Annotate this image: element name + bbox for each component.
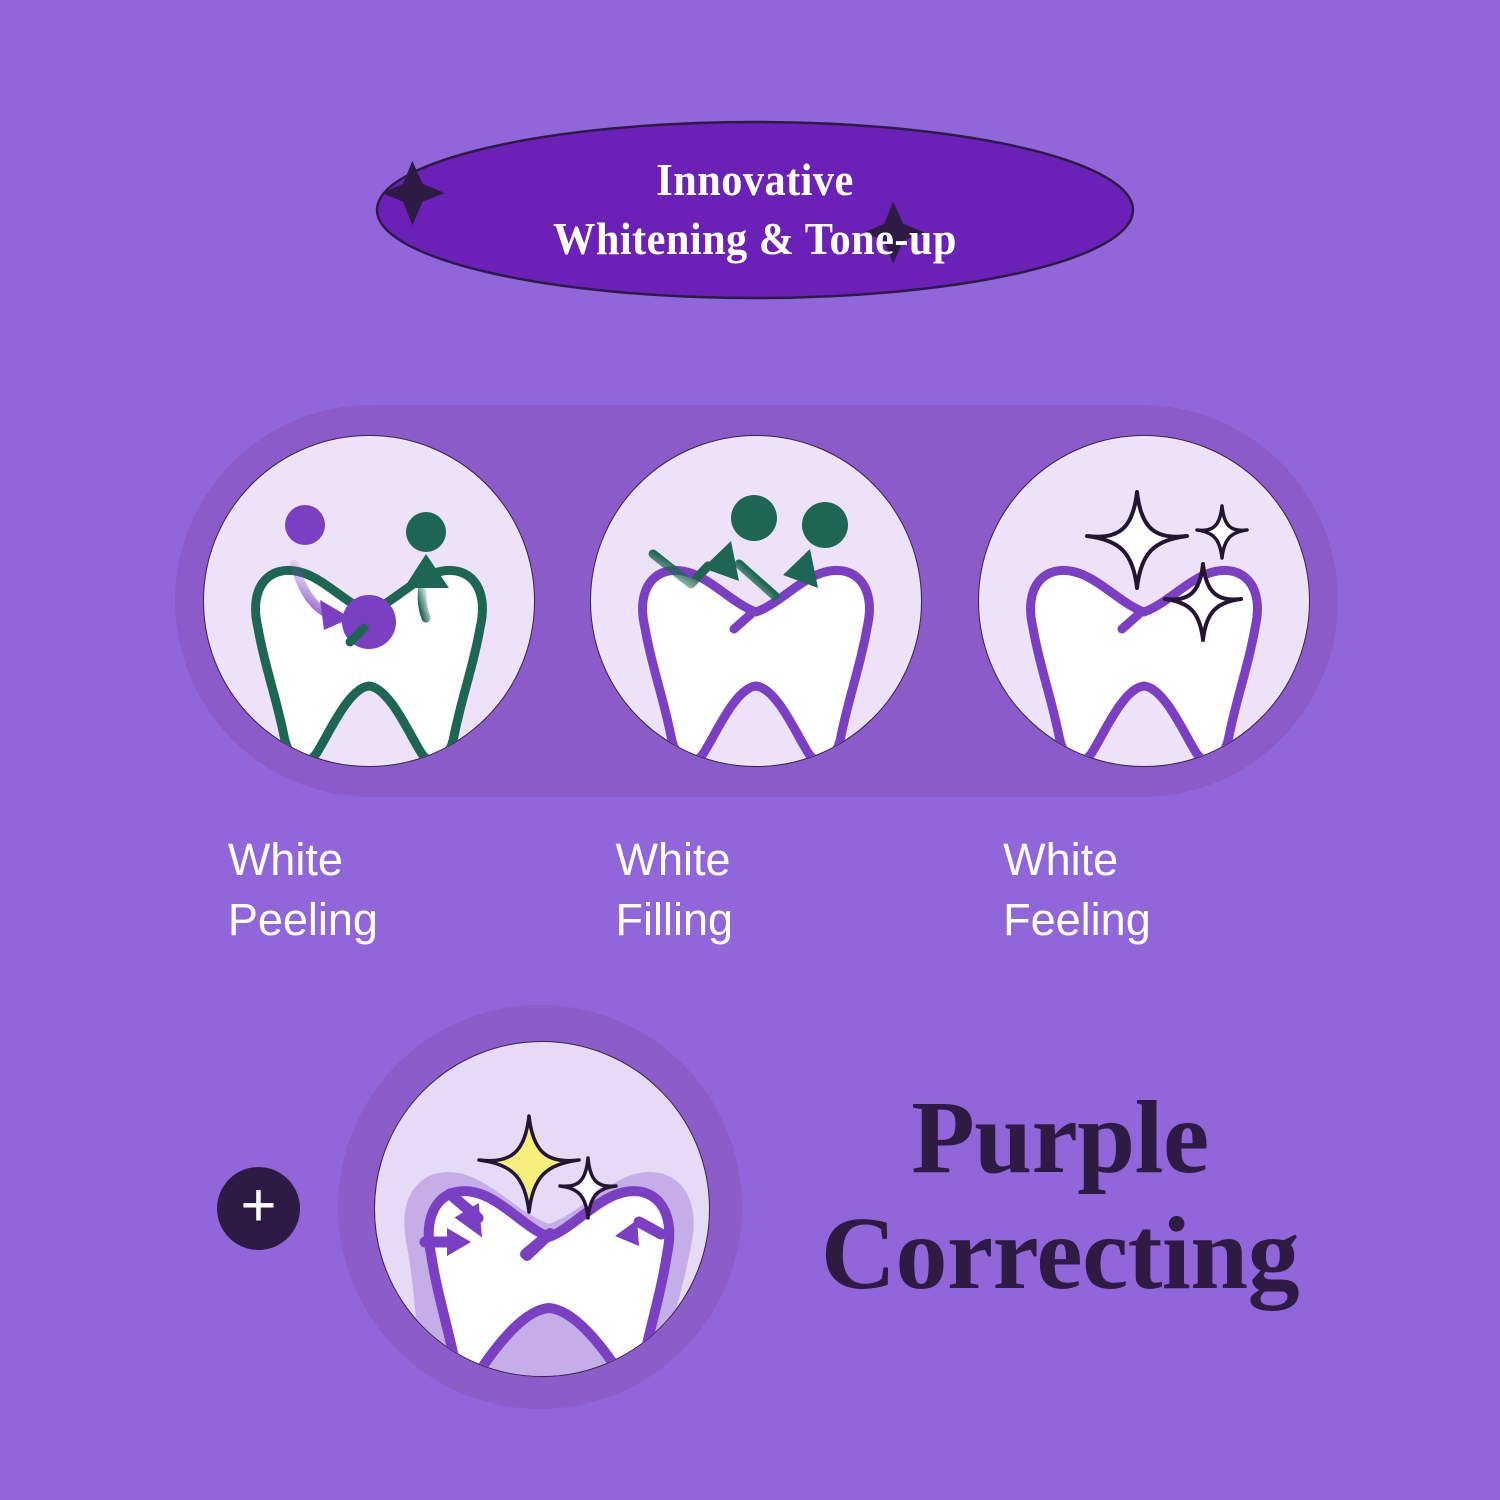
badge-ellipse-shape bbox=[375, 120, 1135, 300]
label-line-1: White bbox=[615, 830, 921, 890]
step-label-white-filling: White Filling bbox=[591, 830, 921, 950]
step-labels-row: White Peeling White Filling White Feelin… bbox=[175, 830, 1338, 960]
plus-icon: + bbox=[240, 1175, 276, 1237]
step-label-white-peeling: White Peeling bbox=[204, 830, 534, 950]
step-icon-white-feeling[interactable] bbox=[978, 435, 1310, 767]
green-dot bbox=[406, 512, 446, 552]
arrowhead bbox=[703, 541, 739, 581]
green-arrow-up-right bbox=[739, 564, 775, 596]
headline-line-1: Purple bbox=[780, 1080, 1340, 1196]
steps-circles-row bbox=[175, 405, 1338, 797]
label-line-1: White bbox=[228, 830, 534, 890]
label-line-2: Feeling bbox=[1003, 890, 1309, 950]
headline-badge: Innovative Whitening & Tone-up bbox=[375, 120, 1135, 300]
poster-canvas: Innovative Whitening & Tone-up bbox=[0, 0, 1500, 1500]
label-line-2: Peeling bbox=[228, 890, 534, 950]
step-icon-white-peeling[interactable] bbox=[203, 435, 535, 767]
purple-correcting-headline: Purple Correcting bbox=[780, 1080, 1340, 1313]
headline-line-2: Correcting bbox=[780, 1196, 1340, 1312]
purple-correcting-icon[interactable] bbox=[374, 1041, 710, 1377]
green-dot bbox=[802, 502, 848, 548]
purple-dot bbox=[285, 505, 325, 545]
green-dot bbox=[731, 495, 777, 541]
tooth-shape bbox=[643, 570, 870, 761]
sparkle-small bbox=[1197, 506, 1247, 558]
label-line-2: Filling bbox=[615, 890, 921, 950]
label-line-1: White bbox=[1003, 830, 1309, 890]
step-icon-white-filling[interactable] bbox=[590, 435, 922, 767]
step-label-white-feeling: White Feeling bbox=[979, 830, 1309, 950]
plus-badge: + bbox=[217, 1167, 300, 1250]
sparkle-large bbox=[1087, 492, 1187, 588]
